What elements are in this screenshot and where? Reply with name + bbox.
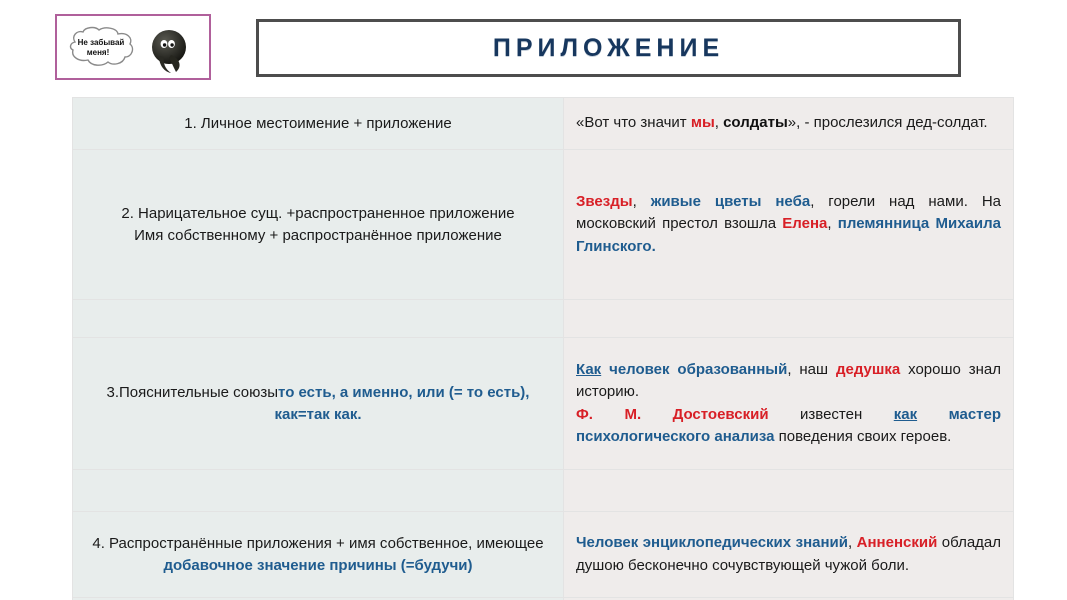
text-segment: Анненский bbox=[857, 534, 938, 551]
page-title: ПРИЛОЖЕНИЕ bbox=[493, 34, 724, 63]
text-segment: , bbox=[848, 534, 857, 551]
rule-example-cell: «Вот что значит мы, солдаты», - прослези… bbox=[564, 98, 1014, 150]
rule-example-cell: Звезды, живые цветы неба, горели над нам… bbox=[564, 150, 1014, 300]
table-spacer-row bbox=[73, 470, 1014, 512]
text-segment: Имя собственному + распространённое прил… bbox=[134, 227, 502, 244]
table-row: 4. Распространённые приложения + имя соб… bbox=[73, 512, 1014, 598]
text-segment: Ф. М. Достоевский bbox=[576, 406, 769, 423]
rule-example-cell: Как человек образованный, наш дедушка хо… bbox=[564, 338, 1014, 470]
text-segment: », - прослезился дед-солдат. bbox=[788, 114, 988, 131]
text-segment: Звезды bbox=[576, 193, 633, 210]
clipart-inner: Не забывай меня! bbox=[57, 16, 209, 78]
text-segment: человек образованный bbox=[609, 361, 787, 378]
speech-bubble-icon: Не забывай меня! bbox=[65, 26, 143, 70]
text-segment: мы bbox=[691, 114, 715, 131]
text-segment: , bbox=[715, 114, 723, 131]
rule-condition-cell: 4. Распространённые приложения + имя соб… bbox=[73, 512, 564, 598]
text-segment: 1. Личное местоимение + приложение bbox=[184, 115, 452, 132]
text-segment: 3.Пояснительные союзы bbox=[107, 384, 279, 401]
text-segment: то есть, а именно, или (= то есть), как=… bbox=[274, 384, 529, 422]
text-segment: как bbox=[894, 406, 917, 423]
text-segment bbox=[601, 361, 609, 378]
text-segment: Человек энциклопедических знаний bbox=[576, 534, 848, 551]
spacer-cell-right bbox=[564, 470, 1014, 512]
rule-condition-cell: 1. Личное местоимение + приложение bbox=[73, 98, 564, 150]
table-row: 1. Личное местоимение + приложение «Вот … bbox=[73, 98, 1014, 150]
bubble-line-1: Не забывай bbox=[78, 38, 125, 47]
spacer-cell-left bbox=[73, 300, 564, 338]
rule-example-cell: Человек энциклопедических знаний, Анненс… bbox=[564, 512, 1014, 598]
text-segment: , bbox=[827, 215, 837, 232]
text-segment: 4. Распространённые приложения + имя соб… bbox=[92, 535, 543, 552]
table-row: 2. Нарицательное сущ. +распространенное … bbox=[73, 150, 1014, 300]
text-segment: поведения своих героев. bbox=[775, 428, 952, 445]
text-segment: добавочное значение причины (=будучи) bbox=[163, 557, 472, 574]
spacer-cell-right bbox=[564, 300, 1014, 338]
rules-table: 1. Личное местоимение + приложение «Вот … bbox=[72, 97, 1014, 600]
bubble-line-2: меня! bbox=[87, 48, 110, 57]
table-spacer-row bbox=[73, 300, 1014, 338]
table-row: 3.Пояснительные союзыто есть, а именно, … bbox=[73, 338, 1014, 470]
comma-character-icon bbox=[143, 28, 199, 74]
text-segment: дедушка bbox=[836, 361, 900, 378]
text-segment: 2. Нарицательное сущ. +распространенное … bbox=[121, 205, 514, 222]
text-segment: , наш bbox=[787, 361, 836, 378]
rule-condition-cell: 3.Пояснительные союзыто есть, а именно, … bbox=[73, 338, 564, 470]
text-segment: известен bbox=[769, 406, 894, 423]
text-segment: живые цветы неба bbox=[651, 193, 811, 210]
rule-condition-cell: 2. Нарицательное сущ. +распространенное … bbox=[73, 150, 564, 300]
rules-table-body: 1. Личное местоимение + приложение «Вот … bbox=[73, 98, 1014, 600]
spacer-cell-left bbox=[73, 470, 564, 512]
text-segment: , bbox=[633, 193, 651, 210]
clipart-box: Не забывай меня! bbox=[55, 14, 211, 80]
text-segment: солдаты bbox=[723, 114, 788, 131]
text-segment: Елена bbox=[782, 215, 827, 232]
text-segment bbox=[917, 406, 948, 423]
text-segment: «Вот что значит bbox=[576, 114, 691, 131]
text-segment: Как bbox=[576, 361, 601, 378]
page-title-bar: ПРИЛОЖЕНИЕ bbox=[256, 19, 961, 77]
